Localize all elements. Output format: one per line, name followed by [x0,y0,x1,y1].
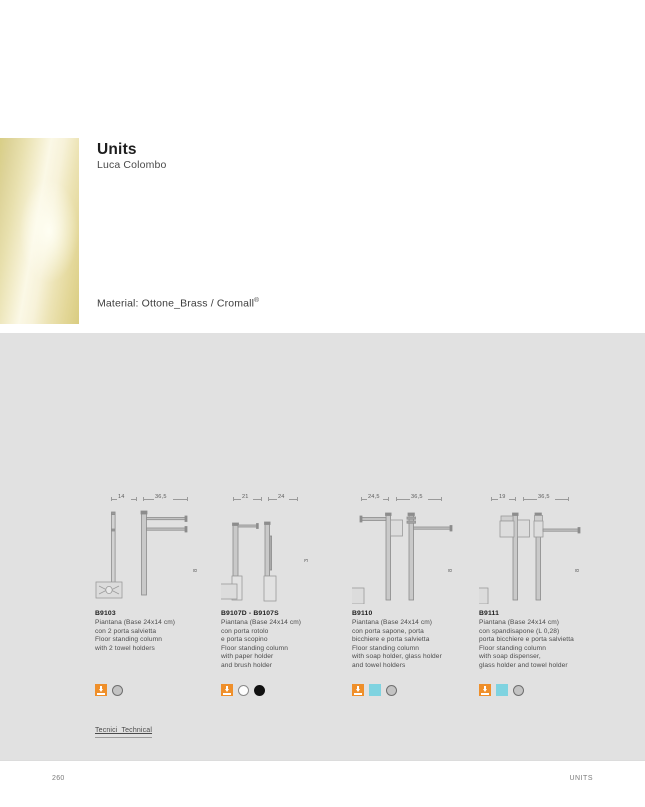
product-code: B9111 [479,610,631,617]
desc-line: e porta scopino [221,636,349,645]
product-code: B9107D - B9107S [221,610,349,617]
desc-line: Piantana (Base 24x14 cm) [352,619,480,628]
dim-depth-label: 36,5 [538,494,550,500]
dim-width-label: 24,5 [368,494,380,500]
product-code: B9110 [352,610,480,617]
footer-divider [0,760,645,761]
desc-line: with soap holder, glass holder [352,653,480,662]
cyan-finish-swatch[interactable] [369,684,381,696]
cyan-finish-swatch[interactable] [496,684,508,696]
desc-line: with soap dispenser, [479,653,631,662]
desc-line: Floor standing column [221,645,349,654]
page-title: Units [97,141,137,159]
technical-drawing-b9110: 24,5 36,5 8 [352,494,480,606]
technical-drawing-b9103: 14 36,5 8 [95,494,223,606]
product-column-b9103: 14 36,5 8 [95,333,223,606]
drawing-svg [352,504,480,604]
desc-line: con porta sapone, porta [352,628,480,637]
desc-line: Piantana (Base 24x14 cm) [95,619,223,628]
product-description: Piantana (Base 24x14 cm) con porta rotol… [221,619,349,671]
designer-name: Luca Colombo [97,159,167,171]
desc-line: Floor standing column [479,645,631,654]
drawing-svg [95,504,223,604]
product-description: Piantana (Base 24x14 cm) con 2 porta sal… [95,619,223,653]
finish-swatches-b9111 [479,684,524,696]
brass-finish-icon[interactable] [352,684,364,696]
brass-material-sample-image [0,138,79,324]
page-footer [0,760,645,807]
header-section: Units Luca Colombo Material: Ottone_Bras… [0,0,645,333]
chrome-finish-swatch[interactable] [112,685,123,696]
product-caption-b9110: B9110 Piantana (Base 24x14 cm) con porta… [352,610,480,671]
product-caption-b9103: B9103 Piantana (Base 24x14 cm) con 2 por… [95,610,223,653]
chrome-finish-swatch[interactable] [513,685,524,696]
product-caption-b9111: B9111 Piantana (Base 24x14 cm) con spand… [479,610,631,671]
product-column-b9107: 21 24 3 [221,333,349,606]
product-code: B9103 [95,610,223,617]
desc-line: con 2 porta salvietta [95,628,223,637]
chrome-finish-swatch[interactable] [386,685,397,696]
desc-line: and towel holders [352,662,480,671]
product-description: Piantana (Base 24x14 cm) con porta sapon… [352,619,480,671]
page-number: 260 [52,775,65,782]
desc-line: glass holder and towel holder [479,662,631,671]
finish-swatches-b9110 [352,684,397,696]
registered-trademark-symbol: ® [254,297,259,304]
drawing-svg [479,504,631,604]
desc-line: Floor standing column [95,636,223,645]
dim-width-label: 14 [118,494,125,500]
technical-drawing-b9111: 19 36,5 8 [479,494,631,606]
dim-width-label: 19 [499,494,506,500]
brass-finish-icon[interactable] [95,684,107,696]
product-column-b9110: 24,5 36,5 8 [352,333,480,606]
material-text: Material: Ottone_Brass / Cromall [97,298,254,310]
dim-depth-label: 24 [278,494,285,500]
desc-line: with 2 towel holders [95,645,223,654]
dim-depth-label: 36,5 [411,494,423,500]
desc-line: con spandisapone (L 0,28) [479,628,631,637]
finish-swatches-b9103 [95,684,123,696]
dim-depth-label: 36,5 [155,494,167,500]
dim-width-label: 21 [242,494,249,500]
product-description: Piantana (Base 24x14 cm) con spandisapon… [479,619,631,671]
technical-drawings-link[interactable]: Tecnici_Technical [95,727,152,738]
technical-drawing-b9107: 21 24 3 [221,494,349,606]
finish-swatches-b9107 [221,684,265,696]
product-column-b9111: 19 36,5 8 [479,333,631,606]
brass-finish-icon[interactable] [221,684,233,696]
desc-line: bicchiere e porta salvietta [352,636,480,645]
brass-finish-icon[interactable] [479,684,491,696]
footer-section-label: UNITS [570,775,594,782]
desc-line: and brush holder [221,662,349,671]
desc-line: Floor standing column [352,645,480,654]
white-finish-swatch[interactable] [238,685,249,696]
drawing-svg [221,504,349,604]
product-caption-b9107: B9107D - B9107S Piantana (Base 24x14 cm)… [221,610,349,671]
desc-line: Piantana (Base 24x14 cm) [479,619,631,628]
desc-line: with paper holder [221,653,349,662]
black-finish-swatch[interactable] [254,685,265,696]
material-line: Material: Ottone_Brass / Cromall® [97,297,259,310]
desc-line: porta bicchiere e porta salvietta [479,636,631,645]
desc-line: con porta rotolo [221,628,349,637]
desc-line: Piantana (Base 24x14 cm) [221,619,349,628]
